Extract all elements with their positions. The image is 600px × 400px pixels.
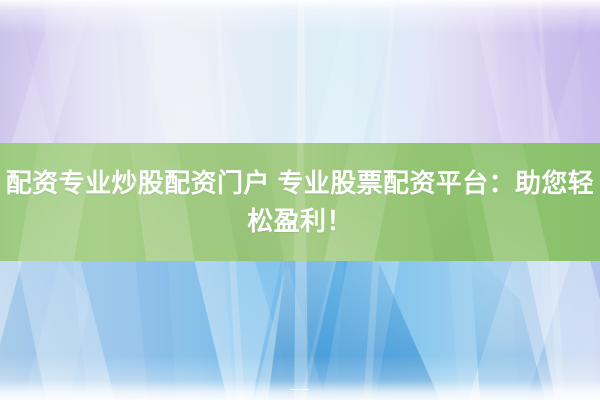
promo-banner: 配资专业炒股配资门户 专业股票配资平台：助您轻 松盈利！ —— <box>0 0 600 400</box>
headline-line-2: 松盈利！ <box>247 202 353 240</box>
background-bottom-gradient <box>0 261 600 400</box>
bottom-watermark: —— <box>0 384 600 394</box>
headline-line-1: 配资专业炒股配资门户 专业股票配资平台：助您轻 <box>6 164 594 202</box>
headline: 配资专业炒股配资门户 专业股票配资平台：助您轻 松盈利！ <box>0 143 600 261</box>
